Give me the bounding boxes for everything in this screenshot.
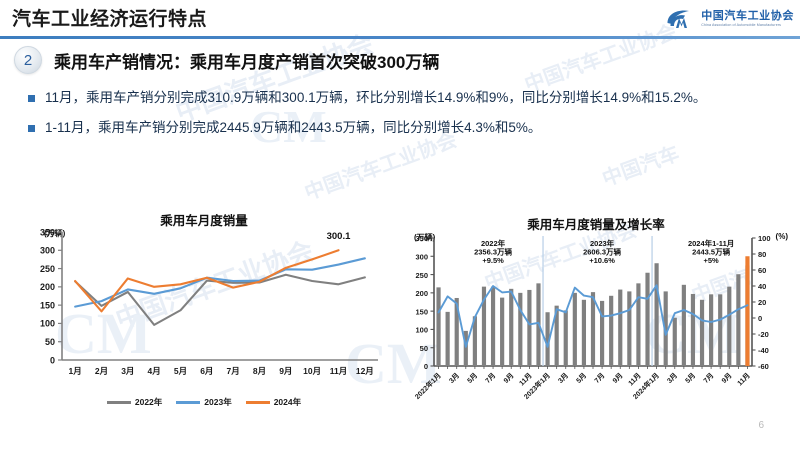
x-axis-tick-label: 3月 xyxy=(448,372,461,385)
y2-axis-tick-label: 20 xyxy=(758,298,766,307)
y2-axis-tick-label: -60 xyxy=(758,362,769,371)
svg-text:9月: 9月 xyxy=(502,372,515,385)
chart-monthly-sales-and-growth-rate: 乘用车月度销量及增长率 (万辆) (%) 0501001502002503003… xyxy=(400,214,792,426)
data-label: 300.1 xyxy=(327,231,351,242)
bar xyxy=(591,292,595,366)
x-axis-tick-label: 3月 xyxy=(121,366,134,376)
cam-logo-icon xyxy=(666,8,696,30)
y-axis-tick-label: 200 xyxy=(415,289,428,298)
slide-header: 汽车工业经济运行特点 中国汽车工业协会 China Association of… xyxy=(0,0,800,40)
y-axis-tick-label: 300 xyxy=(415,252,428,261)
list-item: 11月，乘用车产销分别完成310.9万辆和300.1万辆，环比分别增长14.9%… xyxy=(28,88,776,109)
y-axis-tick-label: 50 xyxy=(420,344,428,353)
bar xyxy=(645,273,649,366)
bar xyxy=(691,294,695,366)
square-bullet-icon xyxy=(28,95,35,102)
legend-swatch xyxy=(107,401,131,404)
bullet-text: 1-11月，乘用车产销分别完成2445.9万辆和2443.5万辆，同比分别增长4… xyxy=(45,118,541,139)
x-axis-tick-label: 3月 xyxy=(666,372,679,385)
x-axis-tick-label: 7月 xyxy=(227,366,240,376)
chart-annotation: +9.5% xyxy=(482,256,504,265)
header-divider xyxy=(0,36,800,39)
bullet-list: 11月，乘用车产销分别完成310.9万辆和300.1万辆，环比分别增长14.9%… xyxy=(28,88,776,148)
y-axis-tick-label: 200 xyxy=(40,282,55,292)
x-axis-tick-label: 9月 xyxy=(502,372,515,385)
legend-item-2024: 2024年 xyxy=(246,396,301,408)
x-axis-tick-label: 7月 xyxy=(593,372,606,385)
x-axis-tick-label: 9月 xyxy=(611,372,624,385)
y-axis-tick-label: 250 xyxy=(40,264,55,274)
x-axis-tick-label: 11月 xyxy=(736,372,752,388)
page-title: 汽车工业经济运行特点 xyxy=(12,4,207,31)
x-axis-tick-label: 3月 xyxy=(557,372,570,385)
bar xyxy=(682,285,686,366)
bar xyxy=(618,290,622,366)
legend-label: 2024年 xyxy=(274,396,301,408)
y-axis-tick-label: 350 xyxy=(415,234,428,243)
svg-text:5月: 5月 xyxy=(466,372,479,385)
bar xyxy=(655,263,659,366)
y-axis-tick-label: 50 xyxy=(45,337,55,347)
svg-text:11月: 11月 xyxy=(736,372,752,388)
legend-label: 2022年 xyxy=(135,396,162,408)
x-axis-tick-label: 7月 xyxy=(484,372,497,385)
y2-axis-tick-label: 60 xyxy=(758,266,766,275)
chart-annotation: +10.6% xyxy=(589,256,615,265)
y-axis-tick-label: 300 xyxy=(40,246,55,256)
line-chart-canvas: 0501001502002503003501月2月3月4月5月6月7月8月9月1… xyxy=(18,210,390,396)
legend-item-2022: 2022年 xyxy=(107,396,162,408)
y-axis-tick-label: 250 xyxy=(415,271,428,280)
x-axis-tick-label: 4月 xyxy=(148,366,161,376)
svg-text:5月: 5月 xyxy=(684,372,697,385)
chart-monthly-passenger-car-sales: 乘用车月度销量 (万辆) 0501001502002503003501月2月3月… xyxy=(18,210,390,422)
svg-text:11月: 11月 xyxy=(518,372,534,388)
x-axis-tick-label: 11月 xyxy=(518,372,534,388)
y2-axis-tick-label: 80 xyxy=(758,250,766,259)
bar xyxy=(709,294,713,366)
legend-label: 2023年 xyxy=(204,396,231,408)
square-bullet-icon xyxy=(28,125,35,132)
svg-text:7月: 7月 xyxy=(702,372,715,385)
bar xyxy=(627,291,631,366)
svg-text:7月: 7月 xyxy=(593,372,606,385)
bar xyxy=(600,301,604,366)
section-heading: 2 乘用车产销情况：乘用车月度产销首次突破300万辆 xyxy=(14,46,439,74)
svg-text:9月: 9月 xyxy=(611,372,624,385)
x-axis-tick-label: 8月 xyxy=(253,366,266,376)
chart-annotation: 2022年 xyxy=(481,238,506,248)
x-axis-tick-label: 5月 xyxy=(174,366,187,376)
x-axis-tick-label: 2022年1月 xyxy=(413,371,443,401)
y2-axis-tick-label: 40 xyxy=(758,282,766,291)
x-axis-tick-label: 9月 xyxy=(279,366,292,376)
bar xyxy=(609,296,613,366)
y2-axis-tick-label: 0 xyxy=(758,314,762,323)
x-axis-tick-label: 5月 xyxy=(466,372,479,385)
y-axis-tick-label: 0 xyxy=(424,362,428,371)
y-axis-tick-label: 150 xyxy=(40,300,55,310)
list-item: 1-11月，乘用车产销分别完成2445.9万辆和2443.5万辆，同比分别增长4… xyxy=(28,118,776,139)
y2-axis-tick-label: -40 xyxy=(758,346,769,355)
slide-root: 中国汽车工业协会 中国汽车工业协会 中国汽车工业协会 中国汽车 中国汽车工业协会… xyxy=(0,0,800,449)
chart-annotation: 2606.3万辆 xyxy=(583,247,621,257)
svg-text:3月: 3月 xyxy=(448,372,461,385)
x-axis-tick-label: 1月 xyxy=(69,366,82,376)
y-axis-tick-label: 100 xyxy=(40,319,55,329)
bar xyxy=(636,283,640,366)
legend-swatch xyxy=(176,401,200,404)
bar xyxy=(727,287,731,366)
bar xyxy=(718,294,722,366)
svg-text:3月: 3月 xyxy=(557,372,570,385)
section-number-badge: 2 xyxy=(14,46,42,74)
bar xyxy=(491,287,495,366)
bar xyxy=(582,300,586,366)
legend-item-2023: 2023年 xyxy=(176,396,231,408)
logo-name-cn: 中国汽车工业协会 xyxy=(701,11,794,22)
chart-annotation: 2023年 xyxy=(590,238,615,248)
svg-text:9月: 9月 xyxy=(720,372,733,385)
x-axis-tick-label: 2月 xyxy=(95,366,108,376)
page-number: 6 xyxy=(758,420,764,431)
chart-annotation: +5% xyxy=(703,256,719,265)
bar xyxy=(700,300,704,366)
logo-name-en: China Association of Automobile Manufact… xyxy=(701,24,794,28)
bullet-text: 11月，乘用车产销分别完成310.9万辆和300.1万辆，环比分别增长14.9%… xyxy=(45,88,706,109)
y2-axis-tick-label: 100 xyxy=(758,234,771,243)
x-axis-tick-label: 5月 xyxy=(684,372,697,385)
bar xyxy=(518,293,522,366)
combo-chart-canvas: 050100150200250300350-60-40-200204060801… xyxy=(400,214,792,426)
bar xyxy=(527,290,531,366)
chart-annotation: 2024年1-11月 xyxy=(688,238,734,248)
y-axis-tick-label: 100 xyxy=(415,326,428,335)
bar xyxy=(573,293,577,366)
svg-text:3月: 3月 xyxy=(666,372,679,385)
x-axis-tick-label: 5月 xyxy=(575,372,588,385)
chart-legend: 2022年 2023年 2024年 xyxy=(18,396,390,408)
organization-logo: 中国汽车工业协会 China Association of Automobile… xyxy=(666,6,794,32)
bar-highlight xyxy=(745,256,749,366)
chart-annotation: 2443.5万辆 xyxy=(692,247,730,257)
x-axis-tick-label: 10月 xyxy=(303,366,321,376)
bar xyxy=(500,298,504,366)
x-axis-tick-label: 12月 xyxy=(356,366,374,376)
bar xyxy=(673,318,677,366)
legend-swatch xyxy=(246,401,270,404)
x-axis-tick-label: 9月 xyxy=(720,372,733,385)
y-axis-tick-label: 0 xyxy=(50,355,55,365)
bar xyxy=(509,289,513,366)
bar xyxy=(736,274,740,366)
bar xyxy=(436,287,440,366)
section-title: 乘用车产销情况：乘用车月度产销首次突破300万辆 xyxy=(54,48,439,73)
svg-text:2022年1月: 2022年1月 xyxy=(413,371,443,401)
bar xyxy=(564,310,568,366)
x-axis-tick-label: 6月 xyxy=(200,366,213,376)
svg-text:5月: 5月 xyxy=(575,372,588,385)
bar xyxy=(446,312,450,366)
svg-text:7月: 7月 xyxy=(484,372,497,385)
svg-text:11月: 11月 xyxy=(627,372,643,388)
x-axis-tick-label: 7月 xyxy=(702,372,715,385)
x-axis-tick-label: 11月 xyxy=(330,366,348,376)
y2-axis-tick-label: -20 xyxy=(758,330,769,339)
x-axis-tick-label: 11月 xyxy=(627,372,643,388)
chart-annotation: 2356.3万辆 xyxy=(474,247,512,257)
y-axis-tick-label: 150 xyxy=(415,307,428,316)
y-axis-tick-label: 350 xyxy=(40,227,55,237)
